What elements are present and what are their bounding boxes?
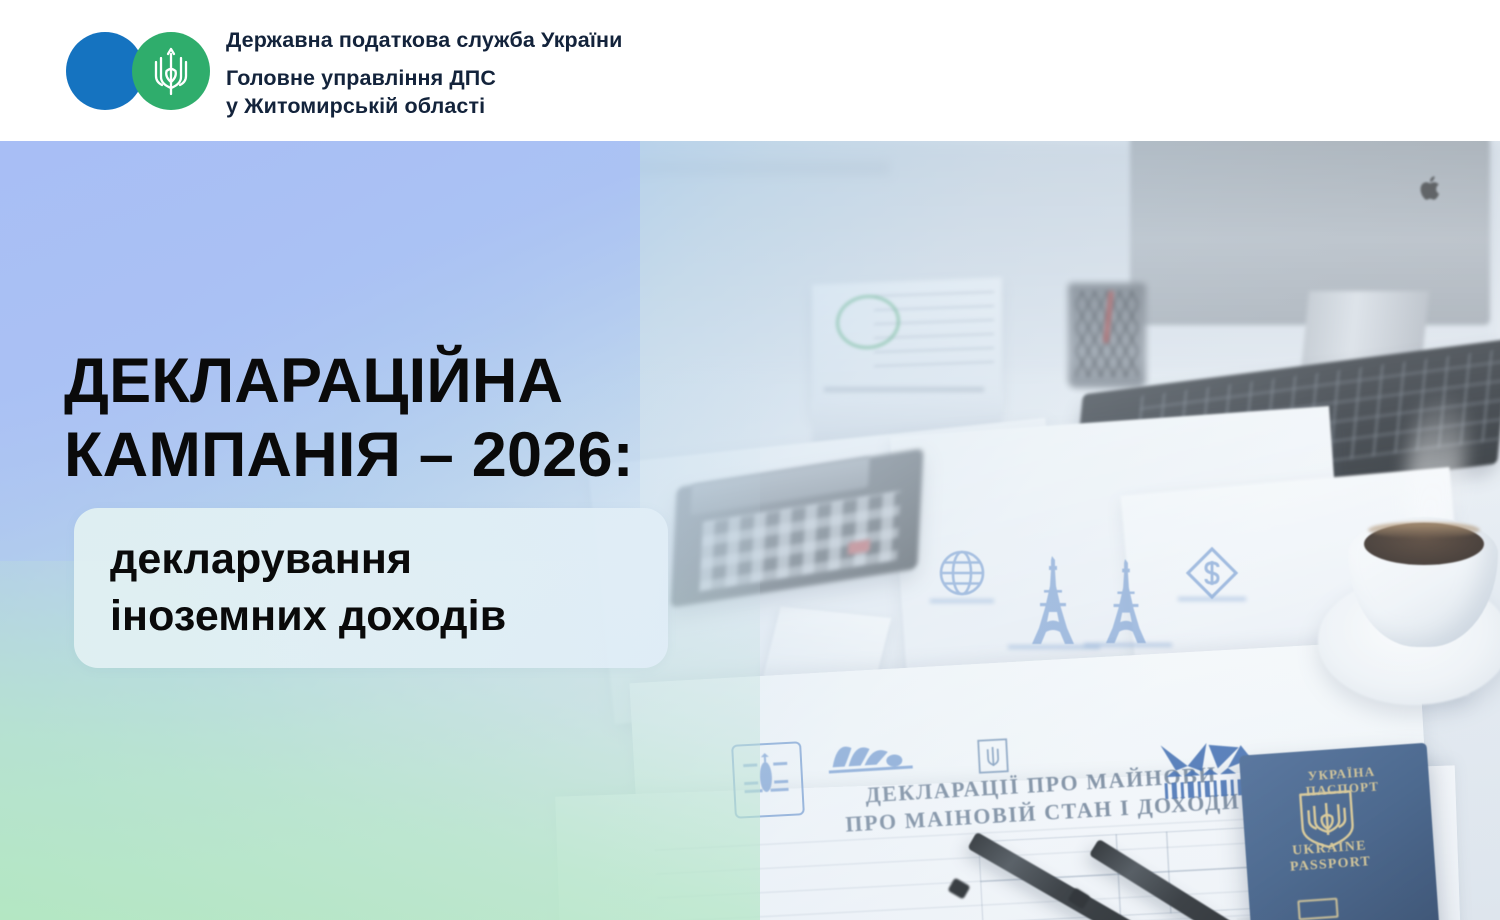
hero-content: ДЕКЛАРАЦІЙНА КАМПАНІЯ – 2026: декларуван… [0,141,1500,920]
banner: Державна податкова служба України Головн… [0,0,1500,920]
hero-banner: ДЕКЛАРАЦІЇ ПРО МАЙНОВИ ПРО МАІНОВІЙ СТАН… [0,141,1500,920]
header-line-3: у Житомирській області [226,92,622,120]
title-line-2: КАМПАНІЯ – 2026: [64,418,724,492]
header: Державна податкова служба України Головн… [0,0,1500,141]
organization-logo [66,32,211,110]
subtitle-line-2: іноземних доходів [110,588,670,645]
title-line-1: ДЕКЛАРАЦІЙНА [64,344,724,418]
header-line-2: Головне управління ДПС [226,64,622,92]
header-line-1: Державна податкова служба України [226,29,622,53]
page-subtitle: декларування іноземних доходів [110,531,670,645]
page-title: ДЕКЛАРАЦІЙНА КАМПАНІЯ – 2026: [64,344,724,493]
ukrainian-trident-icon [132,32,210,110]
subtitle-line-1: декларування [110,531,670,588]
header-title-block: Державна податкова служба України Головн… [226,29,622,120]
